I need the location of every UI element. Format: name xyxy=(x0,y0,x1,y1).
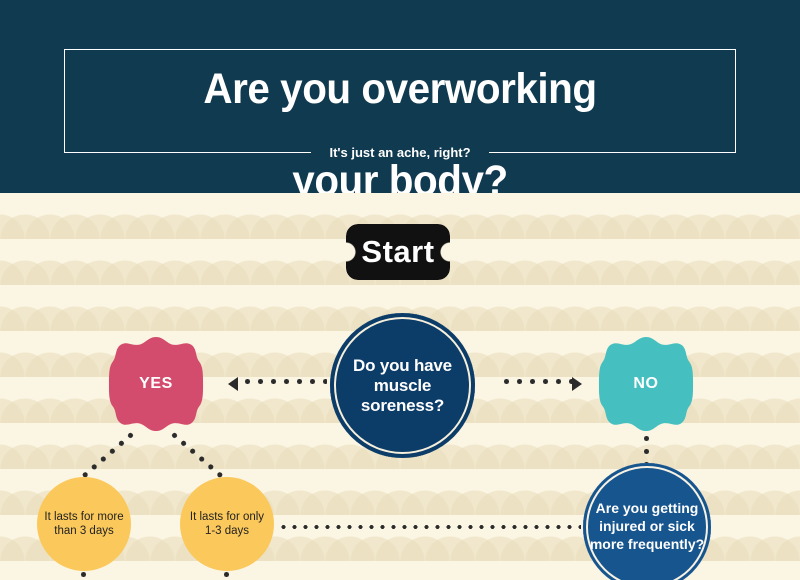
dotted-line-q1-no xyxy=(500,379,572,384)
node-answer-yes[interactable]: YES xyxy=(107,335,205,433)
node-option-1-to-3-days[interactable]: It lasts for only 1-3 days xyxy=(180,477,274,571)
dotted-line-q1-yes xyxy=(241,379,327,384)
node-label-option-b: It lasts for only 1-3 days xyxy=(190,511,264,537)
connector-option-b-downward xyxy=(224,568,229,580)
node-label-q1: Do you have muscle soreness? xyxy=(353,356,452,415)
node-label-option-a-wrap: It lasts for more than 3 days xyxy=(37,510,131,538)
node-label-option-a: It lasts for more than 3 days xyxy=(44,511,123,537)
page-subtitle-text: It's just an ache, right? xyxy=(311,145,488,160)
connector-option-b-to-question-2 xyxy=(278,525,581,529)
start-badge[interactable]: Start xyxy=(346,224,450,280)
q2-label-wrap: Are you getting injured or sick more fre… xyxy=(583,500,711,554)
connector-option-a-downward xyxy=(81,568,86,580)
node-label-q2: Are you getting injured or sick more fre… xyxy=(590,500,704,552)
connector-no-to-question-2 xyxy=(644,432,649,466)
node-label-yes: YES xyxy=(139,375,173,393)
node-answer-no[interactable]: NO xyxy=(597,335,695,433)
start-label-wrap: Start xyxy=(346,234,450,270)
header-banner: Are you overworking your body? It's just… xyxy=(0,0,800,193)
start-label: Start xyxy=(361,234,434,269)
node-label-no-wrap: NO xyxy=(597,335,695,433)
node-question-injured-or-sick[interactable]: Are you getting injured or sick more fre… xyxy=(583,463,711,580)
node-label-yes-wrap: YES xyxy=(107,335,205,433)
node-option-more-than-3-days[interactable]: It lasts for more than 3 days xyxy=(37,477,131,571)
page-subtitle: It's just an ache, right? xyxy=(0,140,800,166)
page-title-line-1: Are you overworking xyxy=(194,66,606,112)
arrow-right-icon xyxy=(572,377,582,391)
node-label-option-b-wrap: It lasts for only 1-3 days xyxy=(180,510,274,538)
page-title: Are you overworking your body? xyxy=(24,20,776,193)
node-question-muscle-soreness[interactable]: Do you have muscle soreness? xyxy=(330,313,475,458)
q1-label-wrap: Do you have muscle soreness? xyxy=(330,356,475,416)
node-label-no: NO xyxy=(633,375,658,393)
arrow-left-icon xyxy=(228,377,238,391)
infographic-page: Are you overworking your body? It's just… xyxy=(0,0,800,580)
